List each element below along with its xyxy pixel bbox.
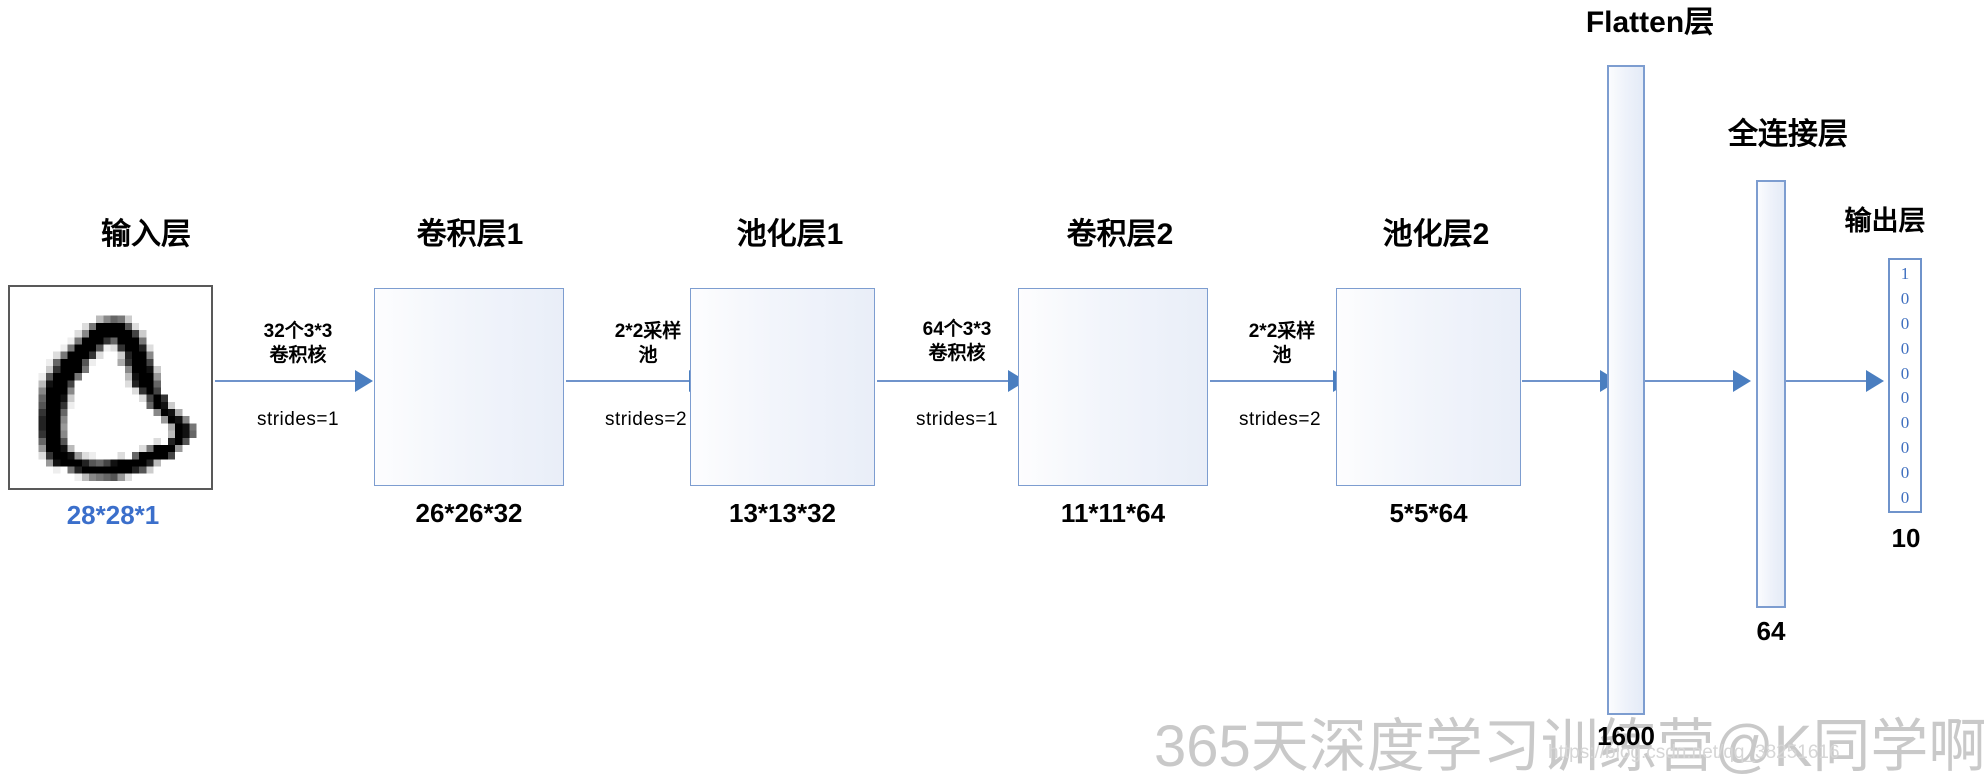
layer-title-pool1: 池化层1 xyxy=(690,220,890,250)
arrow-head-input-to-conv1 xyxy=(355,370,373,392)
arrow-line-pool2-to-flatten xyxy=(1522,380,1602,382)
feature-map-conv1 xyxy=(374,288,564,486)
annotation-pool1-to-conv2-top: 64个3*3 卷积核 xyxy=(882,318,1032,366)
layer-title-dense: 全连接层 xyxy=(1668,120,1908,150)
output-vector-cell: 0 xyxy=(1901,489,1910,506)
annotation-conv2-to-pool2-bottom: strides=2 xyxy=(1210,410,1350,429)
dim-label-dense: 64 xyxy=(1716,618,1826,644)
layer-title-input: 输入层 xyxy=(46,220,246,250)
annotation-pool1-to-conv2-bottom: strides=1 xyxy=(882,410,1032,429)
output-vector-cell: 0 xyxy=(1901,389,1910,406)
feature-map-pool1 xyxy=(690,288,875,486)
arrow-line-flatten-to-dense xyxy=(1645,380,1735,382)
output-vector: 1000000000 xyxy=(1888,258,1922,513)
dim-label-input: 28*28*1 xyxy=(28,502,198,528)
output-vector-cell: 0 xyxy=(1901,290,1910,307)
arrow-line-conv2-to-pool2 xyxy=(1210,380,1335,382)
annotation-input-to-conv1-top: 32个3*3 卷积核 xyxy=(228,320,368,368)
arrow-head-dense-to-output xyxy=(1866,370,1884,392)
layer-title-pool2: 池化层2 xyxy=(1336,220,1536,250)
output-vector-cell: 0 xyxy=(1901,340,1910,357)
dim-label-flatten: 1600 xyxy=(1566,723,1686,749)
input-image-frame xyxy=(8,285,213,490)
annotation-input-to-conv1-bottom: strides=1 xyxy=(228,410,368,429)
output-vector-cell: 1 xyxy=(1901,265,1910,282)
dim-label-conv1: 26*26*32 xyxy=(374,500,564,526)
layer-title-flatten: Flatten层 xyxy=(1530,8,1770,38)
output-vector-cell: 0 xyxy=(1901,414,1910,431)
arrow-line-pool1-to-conv2 xyxy=(877,380,1010,382)
output-vector-cell: 0 xyxy=(1901,315,1910,332)
layer-title-conv2: 卷积层2 xyxy=(1020,220,1220,250)
layer-title-output: 输出层 xyxy=(1790,208,1980,235)
dim-label-output: 10 xyxy=(1858,525,1954,551)
feature-map-pool2 xyxy=(1336,288,1521,486)
flatten-bar xyxy=(1607,65,1645,715)
output-vector-cell: 0 xyxy=(1901,464,1910,481)
dim-label-pool2: 5*5*64 xyxy=(1336,500,1521,526)
mnist-digit-image xyxy=(10,287,211,488)
output-vector-cell: 0 xyxy=(1901,439,1910,456)
arrow-head-flatten-to-dense xyxy=(1733,370,1751,392)
dense-bar xyxy=(1756,180,1786,608)
output-vector-cell: 0 xyxy=(1901,365,1910,382)
arrow-line-conv1-to-pool1 xyxy=(566,380,691,382)
annotation-conv2-to-pool2-top: 2*2采样 池 xyxy=(1212,320,1352,368)
dim-label-conv2: 11*11*64 xyxy=(1018,500,1208,526)
cnn-architecture-diagram: 365天深度学习训练营@K同学啊 https://blog.csdn.net/q… xyxy=(0,0,1984,781)
feature-map-conv2 xyxy=(1018,288,1208,486)
layer-title-conv1: 卷积层1 xyxy=(370,220,570,250)
arrow-line-dense-to-output xyxy=(1786,380,1868,382)
dim-label-pool1: 13*13*32 xyxy=(690,500,875,526)
arrow-line-input-to-conv1 xyxy=(215,380,357,382)
